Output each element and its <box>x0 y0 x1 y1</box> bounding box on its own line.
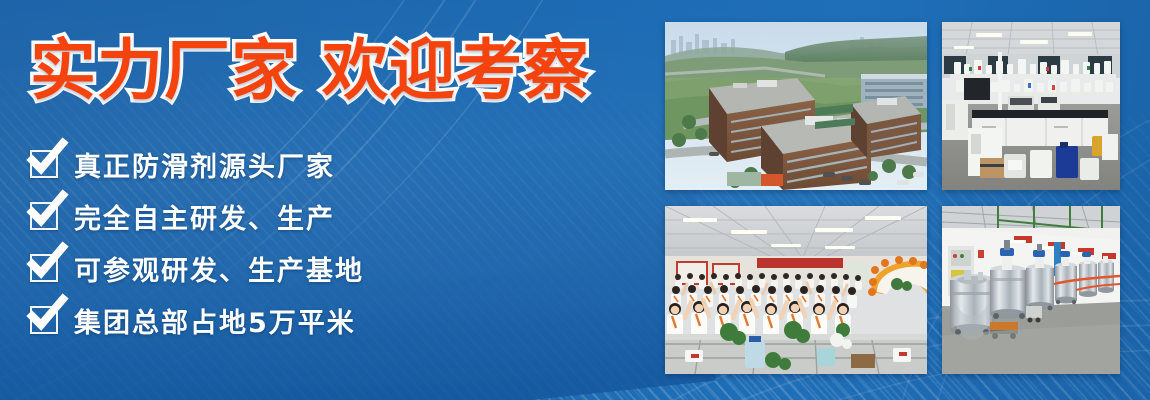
text-column: 实力厂家 欢迎考察 真正防滑剂源头厂家 完全自主研发、生产 <box>0 0 640 400</box>
list-item: 集团总部占地5万平米 <box>30 296 630 344</box>
checkbox-checked-icon <box>30 254 58 282</box>
checkbox-checked-icon <box>30 150 58 178</box>
photo-production-mixing-tanks <box>942 206 1120 374</box>
list-item: 真正防滑剂源头厂家 <box>30 140 630 188</box>
checkbox-checked-icon <box>30 306 58 334</box>
checkbox-checked-icon <box>30 202 58 230</box>
feature-list: 真正防滑剂源头厂家 完全自主研发、生产 可参观研发、生产基地 <box>30 140 630 348</box>
list-item-label: 完全自主研发、生产 <box>74 197 335 236</box>
list-item: 完全自主研发、生产 <box>30 192 630 240</box>
photo-laboratory-interior <box>942 22 1120 190</box>
photo-aerial-factory-campus <box>665 22 927 190</box>
page-title: 实力厂家 欢迎考察 <box>30 38 590 104</box>
list-item-label: 集团总部占地5万平米 <box>74 301 356 340</box>
photo-open-plan-office-staff <box>665 206 927 374</box>
promo-banner: 实力厂家 欢迎考察 真正防滑剂源头厂家 完全自主研发、生产 <box>0 0 1150 400</box>
list-item-label: 可参观研发、生产基地 <box>74 249 364 288</box>
list-item-label: 真正防滑剂源头厂家 <box>74 145 335 184</box>
list-item: 可参观研发、生产基地 <box>30 244 630 292</box>
photo-grid <box>665 22 1120 374</box>
